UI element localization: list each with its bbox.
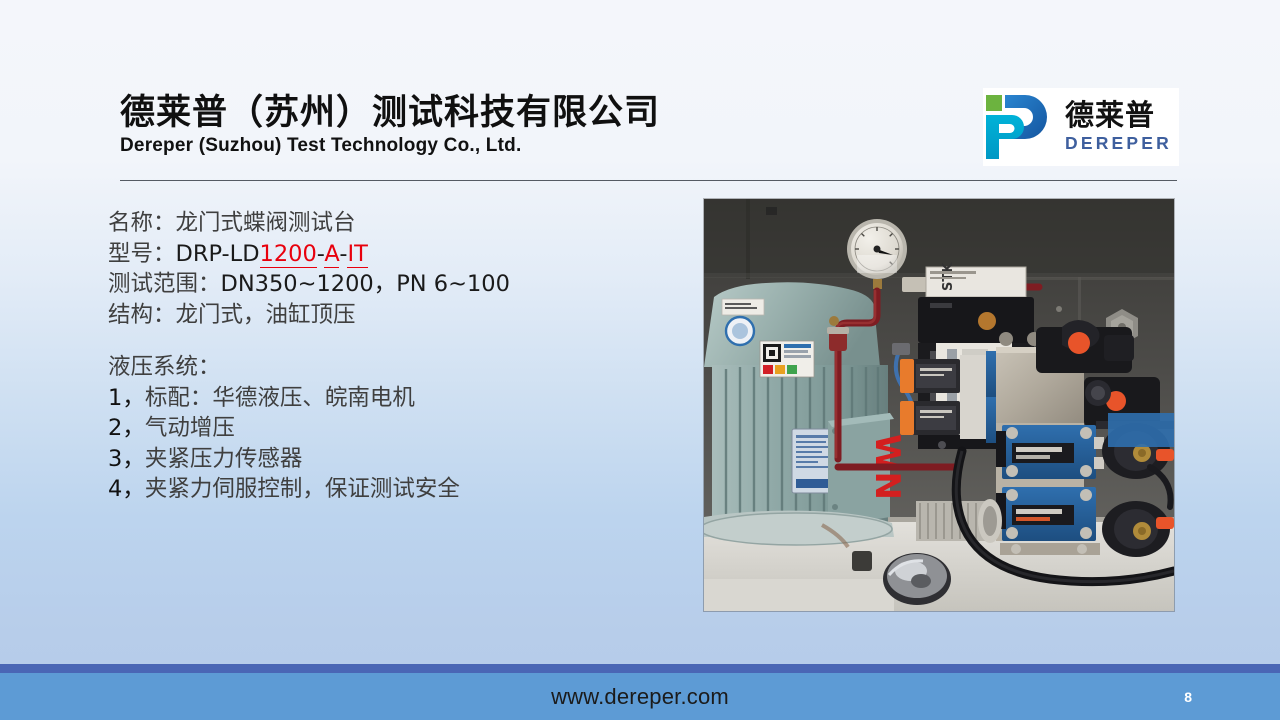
- hydraulic-item-1-text: 标配：华德液压、皖南电机: [145, 385, 415, 411]
- spec-label-test-range: 测试范围：: [108, 271, 221, 297]
- header-divider-rule: [120, 180, 1177, 181]
- hydraulic-item-3-number: 3，: [108, 446, 145, 472]
- spec-list: 名称：龙门式蝶阀测试台 型号：DRP-LD1200-A-IT 测试范围：DN35…: [108, 208, 668, 330]
- spec-label-structure: 结构：: [108, 302, 176, 328]
- spec-row-name: 名称：龙门式蝶阀测试台: [108, 208, 668, 239]
- footer-website-url[interactable]: www.dereper.com: [0, 673, 1280, 720]
- spec-label-name: 名称：: [108, 210, 176, 236]
- model-option-code: IT: [347, 241, 367, 268]
- model-prefix: DRP-LD: [176, 241, 260, 267]
- spec-row-structure: 结构：龙门式，油缸顶压: [108, 300, 668, 331]
- model-size-code: 1200: [260, 241, 317, 268]
- logo-wordmark: 德莱普 DEREPER: [1065, 101, 1172, 153]
- hydraulic-item-2: 2，气动增压: [108, 413, 668, 444]
- hydraulic-item-4-number: 4，: [108, 476, 145, 502]
- hydraulic-item-4-text: 夹紧力伺服控制，保证测试安全: [145, 476, 460, 502]
- spec-row-model: 型号：DRP-LD1200-A-IT: [108, 239, 668, 270]
- footer-divider: [0, 664, 1280, 673]
- model-variant-code: A: [324, 241, 339, 268]
- svg-text:STK: STK: [941, 262, 956, 291]
- spec-value-name: 龙门式蝶阀测试台: [176, 210, 356, 236]
- spec-label-model: 型号：: [108, 241, 176, 267]
- hydraulic-item-2-number: 2，: [108, 415, 145, 441]
- hydraulic-item-3: 3，夹紧压力传感器: [108, 444, 668, 475]
- brand-logo: 德莱普 DEREPER: [983, 88, 1179, 166]
- hydraulic-item-4: 4，夹紧力伺服控制，保证测试安全: [108, 474, 668, 505]
- logo-text-en: DEREPER: [1065, 135, 1172, 153]
- logo-text-cn: 德莱普: [1065, 101, 1172, 130]
- company-name-en: Dereper (Suzhou) Test Technology Co., Lt…: [120, 135, 660, 157]
- hydraulic-heading: 液压系统：: [108, 352, 668, 383]
- hydraulic-item-1-number: 1，: [108, 385, 145, 411]
- equipment-photo: WN: [704, 199, 1174, 611]
- hydraulic-system-block: 液压系统： 1，标配：华德液压、皖南电机 2，气动增压 3，夹紧压力传感器 4，…: [108, 352, 668, 505]
- company-name-cn: 德莱普（苏州）测试科技有限公司: [120, 93, 660, 132]
- spec-row-test-range: 测试范围：DN350~1200，PN 6~100: [108, 269, 668, 300]
- company-title-block: 德莱普（苏州）测试科技有限公司 Dereper (Suzhou) Test Te…: [120, 93, 660, 157]
- hydraulic-item-1: 1，标配：华德液压、皖南电机: [108, 383, 668, 414]
- dereper-p-d-monogram-icon: [983, 91, 1059, 163]
- spec-value-structure: 龙门式，油缸顶压: [176, 302, 356, 328]
- spec-value-test-range: DN350~1200，PN 6~100: [221, 271, 510, 297]
- hydraulic-item-2-text: 气动增压: [145, 415, 235, 441]
- hydraulic-item-3-text: 夹紧压力传感器: [145, 446, 303, 472]
- slide-header: 德莱普（苏州）测试科技有限公司 Dereper (Suzhou) Test Te…: [0, 0, 1280, 185]
- page-number: 8: [1184, 673, 1192, 720]
